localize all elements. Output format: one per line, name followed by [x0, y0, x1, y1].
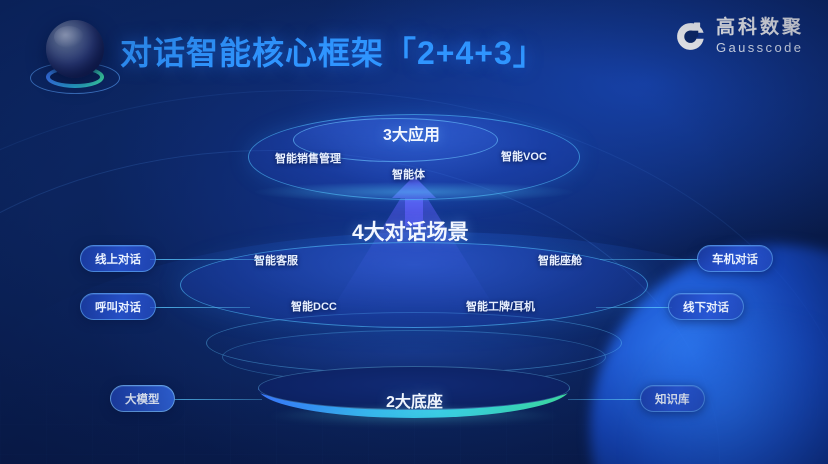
vignette-overlay [0, 0, 828, 464]
slide-canvas: 对话智能核心框架「2+4+3」 高科数聚 Gausscode [0, 0, 828, 464]
